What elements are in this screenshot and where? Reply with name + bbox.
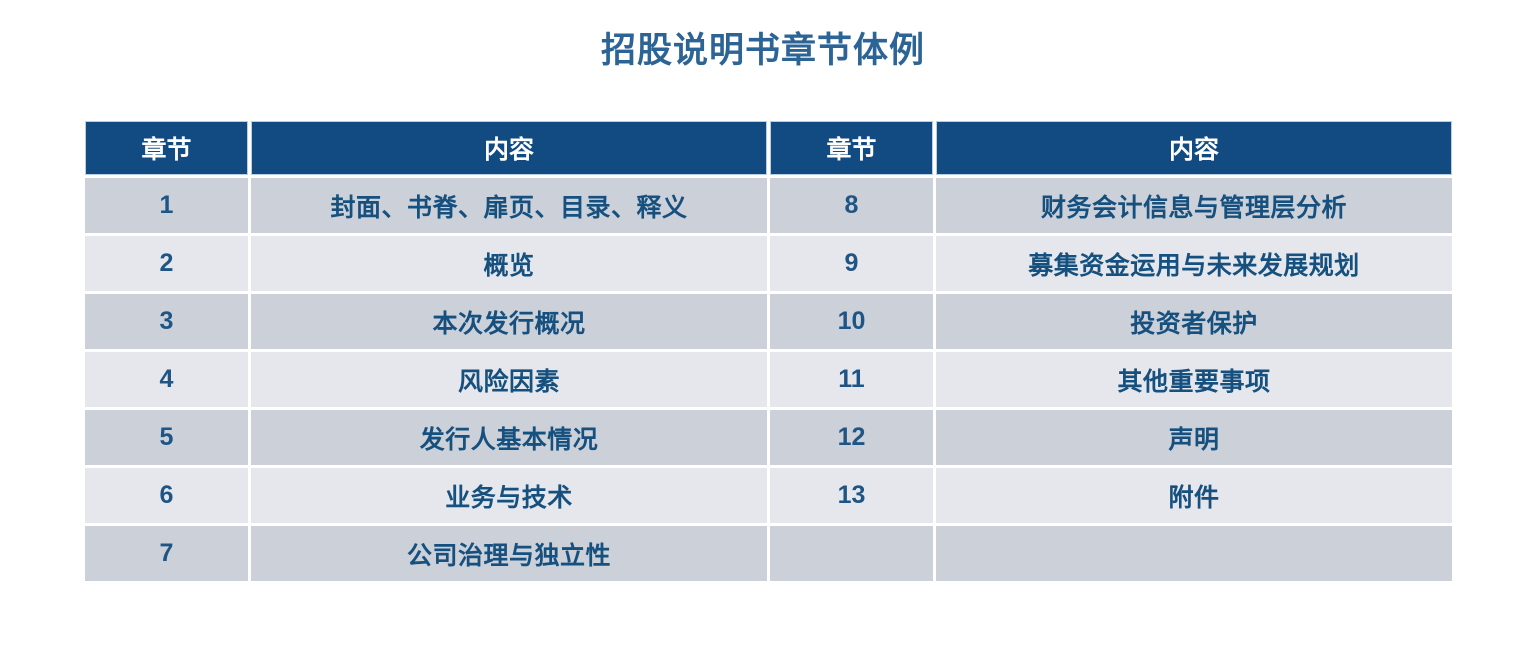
table-row: 6 业务与技术 13 附件 [85, 468, 1452, 523]
cell-chapter-right: 12 [770, 410, 933, 465]
cell-chapter-right: 11 [770, 352, 933, 407]
table-row: 2 概览 9 募集资金运用与未来发展规划 [85, 236, 1452, 291]
table-row: 4 风险因素 11 其他重要事项 [85, 352, 1452, 407]
header-content-left: 内容 [251, 121, 767, 175]
table-header-row: 章节 内容 章节 内容 [85, 121, 1452, 175]
cell-content-right: 其他重要事项 [936, 352, 1452, 407]
table-row: 3 本次发行概况 10 投资者保护 [85, 294, 1452, 349]
cell-content-right: 附件 [936, 468, 1452, 523]
table-body: 1 封面、书脊、扉页、目录、释义 8 财务会计信息与管理层分析 2 概览 9 募… [85, 178, 1452, 581]
table-row: 1 封面、书脊、扉页、目录、释义 8 财务会计信息与管理层分析 [85, 178, 1452, 233]
cell-content-left: 封面、书脊、扉页、目录、释义 [251, 178, 767, 233]
cell-content-right: 声明 [936, 410, 1452, 465]
cell-chapter-left: 1 [85, 178, 248, 233]
cell-content-left: 风险因素 [251, 352, 767, 407]
cell-content-left: 业务与技术 [251, 468, 767, 523]
cell-content-right: 募集资金运用与未来发展规划 [936, 236, 1452, 291]
chapter-table: 章节 内容 章节 内容 1 封面、书脊、扉页、目录、释义 8 财务会计信息与管理… [82, 118, 1455, 584]
cell-content-left: 本次发行概况 [251, 294, 767, 349]
table-header: 章节 内容 章节 内容 [85, 121, 1452, 175]
slide-page: 招股说明书章节体例 章节 内容 章节 内容 1 封面、书脊、扉页、目录、释义 8… [0, 0, 1526, 645]
header-chapter-right: 章节 [770, 121, 933, 175]
cell-content-left: 概览 [251, 236, 767, 291]
cell-chapter-right: 10 [770, 294, 933, 349]
cell-content-left: 公司治理与独立性 [251, 526, 767, 581]
cell-content-right-empty [936, 526, 1452, 581]
cell-content-right: 财务会计信息与管理层分析 [936, 178, 1452, 233]
cell-chapter-left: 2 [85, 236, 248, 291]
cell-chapter-right: 8 [770, 178, 933, 233]
cell-chapter-right: 9 [770, 236, 933, 291]
cell-chapter-left: 3 [85, 294, 248, 349]
cell-chapter-right: 13 [770, 468, 933, 523]
chapter-table-container: 章节 内容 章节 内容 1 封面、书脊、扉页、目录、释义 8 财务会计信息与管理… [85, 121, 1425, 581]
cell-chapter-right-empty [770, 526, 933, 581]
cell-content-left: 发行人基本情况 [251, 410, 767, 465]
header-chapter-left: 章节 [85, 121, 248, 175]
cell-chapter-left: 5 [85, 410, 248, 465]
table-row: 5 发行人基本情况 12 声明 [85, 410, 1452, 465]
cell-chapter-left: 6 [85, 468, 248, 523]
page-title: 招股说明书章节体例 [0, 28, 1526, 74]
cell-chapter-left: 7 [85, 526, 248, 581]
header-content-right: 内容 [936, 121, 1452, 175]
cell-chapter-left: 4 [85, 352, 248, 407]
cell-content-right: 投资者保护 [936, 294, 1452, 349]
table-row: 7 公司治理与独立性 [85, 526, 1452, 581]
